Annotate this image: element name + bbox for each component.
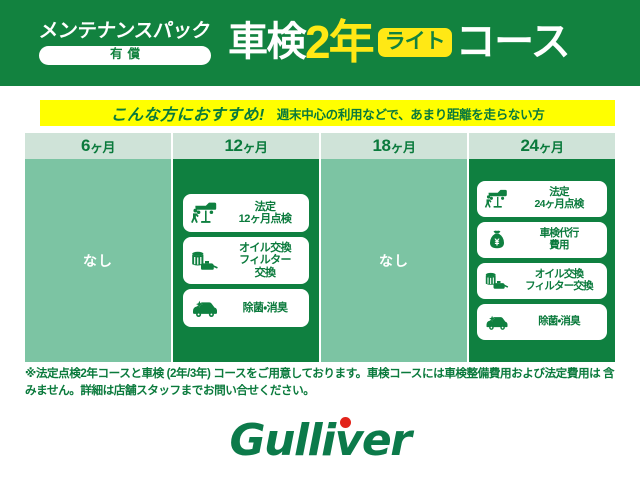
recommendation-headline: こんな方におすすめ! — [111, 101, 265, 125]
car-sanitize-icon — [189, 294, 221, 322]
recommendation-bar: こんな方におすすめ! 週末中心の利用などで、あまり距離を走らない方 — [40, 100, 615, 126]
money-bag-yen-icon — [483, 227, 511, 253]
header-left-group: メンテナンスパック 有償 — [0, 21, 228, 64]
logo-red-dot-icon — [340, 417, 351, 428]
gulliver-logo: Gulliver — [230, 415, 411, 466]
service-chip-label-line: 交換 — [225, 267, 305, 279]
brand-logo-area: Gulliver — [0, 415, 640, 466]
service-chip: 除菌・消臭 — [477, 304, 607, 340]
plan-empty-label: なし — [83, 251, 113, 271]
plan-column-header: 18ヶ月 — [321, 133, 467, 159]
light-badge: ライト — [378, 28, 452, 57]
service-chip-label-line: 24ヶ月点検 — [515, 199, 603, 211]
paid-badge: 有償 — [39, 46, 211, 65]
plan-column-services: 法定12ヶ月点検オイル交換フィルター交換除菌・消臭 — [173, 159, 319, 362]
service-chip-label: 除菌・消臭 — [225, 302, 305, 314]
plan-column-header: 24ヶ月 — [469, 133, 615, 159]
service-chip: 車検代行費用 — [477, 222, 607, 258]
recommendation-detail: 週末中心の利用などで、あまり距離を走らない方 — [277, 104, 545, 123]
oil-filter-icon — [189, 247, 221, 275]
oil-filter-icon — [483, 268, 511, 294]
service-chip-label: 法定12ヶ月点検 — [225, 201, 305, 226]
plan-empty-label: なし — [379, 251, 409, 271]
service-chip: オイル交換フィルター交換 — [477, 263, 607, 299]
plan-column-empty: なし — [25, 159, 171, 362]
course-title-group: 車検 2 年 ライト コース — [228, 19, 640, 67]
plan-column-2: 12ヶ月法定12ヶ月点検オイル交換フィルター交換除菌・消臭 — [173, 133, 319, 362]
car-lift-inspection-icon — [189, 199, 221, 227]
service-chip-label-line: 除菌・消臭 — [515, 316, 603, 328]
service-chip-label: オイル交換フィルター交換 — [225, 242, 305, 279]
service-chip: 除菌・消臭 — [183, 289, 309, 327]
service-chip: オイル交換フィルター交換 — [183, 237, 309, 284]
plan-column-services: 法定24ヶ月点検車検代行費用オイル交換フィルター交換除菌・消臭 — [469, 159, 615, 362]
plan-column-4: 24ヶ月法定24ヶ月点検車検代行費用オイル交換フィルター交換除菌・消臭 — [469, 133, 615, 362]
plan-column-header: 12ヶ月 — [173, 133, 319, 159]
service-chip: 法定24ヶ月点検 — [477, 181, 607, 217]
service-chip: 法定12ヶ月点検 — [183, 194, 309, 232]
service-chip-label-line: オイル交換 — [225, 242, 305, 254]
service-chip-label-line: 費用 — [515, 240, 603, 252]
maintenance-pack-title: メンテナンスパック — [38, 21, 212, 41]
car-sanitize-icon — [483, 309, 511, 335]
plan-column-1: 6ヶ月なし — [25, 133, 171, 362]
header-banner: メンテナンスパック 有償 車検 2 年 ライト コース — [0, 0, 640, 86]
course-label-shaken: 車検 — [228, 22, 305, 62]
service-chip-label-line: フィルター — [225, 254, 305, 266]
service-plan-table: 6ヶ月なし12ヶ月法定12ヶ月点検オイル交換フィルター交換除菌・消臭18ヶ月なし… — [25, 133, 615, 362]
course-label-year: 年 — [329, 19, 373, 65]
course-number: 2 — [305, 19, 329, 65]
plan-column-empty: なし — [321, 159, 467, 362]
service-chip-label-line: 法定 — [225, 201, 305, 213]
plan-column-3: 18ヶ月なし — [321, 133, 467, 362]
service-chip-label-line: 12ヶ月点検 — [225, 213, 305, 225]
service-chip-label: 車検代行費用 — [515, 228, 603, 252]
gulliver-logo-text: Gulliver — [230, 415, 411, 466]
plan-column-header: 6ヶ月 — [25, 133, 171, 159]
service-chip-label-line: 除菌・消臭 — [225, 302, 305, 314]
disclaimer-note: ※法定点検2年コースと車検 (2年/3年) コースをご用意しております。車検コー… — [25, 366, 621, 400]
service-chip-label: オイル交換フィルター交換 — [515, 269, 603, 293]
car-lift-inspection-icon — [483, 186, 511, 212]
course-label-suffix: コース — [456, 22, 570, 62]
service-chip-label: 法定24ヶ月点検 — [515, 187, 603, 211]
disclaimer-line-1: ※法定点検2年コースと車検 (2年/3年) コースをご用意しております。車検コー… — [25, 367, 600, 380]
service-chip-label: 除菌・消臭 — [515, 316, 603, 328]
service-chip-label-line: フィルター交換 — [515, 281, 603, 293]
